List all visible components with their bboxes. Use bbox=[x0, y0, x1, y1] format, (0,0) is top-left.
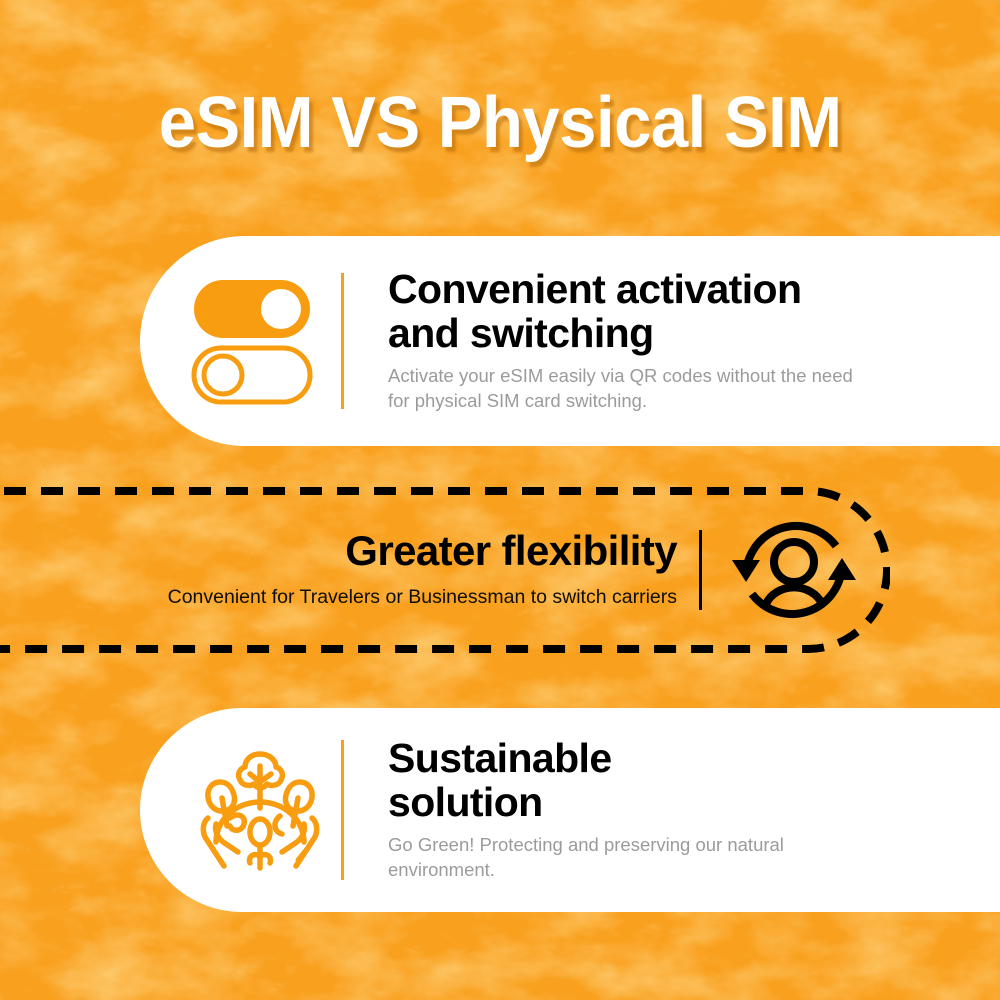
card-divider bbox=[341, 740, 344, 880]
card-heading-line-2: and switching bbox=[388, 312, 960, 355]
band-heading: Greater flexibility bbox=[168, 530, 677, 572]
card-heading-line-1: Convenient activation bbox=[388, 266, 801, 312]
band-divider bbox=[699, 530, 702, 610]
toggle-switches-icon bbox=[185, 276, 335, 406]
band-text-block: Greater flexibility Convenient for Trave… bbox=[168, 530, 677, 609]
user-switch-carriers-icon bbox=[724, 500, 864, 640]
page-title: eSIM VS Physical SIM bbox=[159, 87, 842, 159]
card-body-text: Go Green! Protecting and preserving our … bbox=[388, 833, 858, 882]
card-heading: Sustainable solution bbox=[388, 737, 960, 824]
card-heading-line-2: solution bbox=[388, 781, 960, 824]
card-body-text: Activate your eSIM easily via QR codes w… bbox=[388, 364, 858, 413]
card-heading-line-1: Sustainable bbox=[388, 735, 612, 781]
page-title-container: eSIM VS Physical SIM bbox=[0, 78, 1000, 168]
card-divider bbox=[341, 273, 344, 409]
card-text-block: Convenient activation and switching Acti… bbox=[388, 268, 1000, 413]
card-text-block: Sustainable solution Go Green! Protectin… bbox=[388, 737, 1000, 882]
hands-globe-trees-icon bbox=[185, 746, 335, 874]
feature-card-sustainable-solution: Sustainable solution Go Green! Protectin… bbox=[140, 708, 1000, 912]
feature-band-greater-flexibility: Greater flexibility Convenient for Trave… bbox=[0, 487, 890, 653]
band-body-text: Convenient for Travelers or Businessman … bbox=[168, 586, 677, 609]
card-heading: Convenient activation and switching bbox=[388, 268, 960, 355]
feature-card-convenient-activation: Convenient activation and switching Acti… bbox=[140, 236, 1000, 446]
